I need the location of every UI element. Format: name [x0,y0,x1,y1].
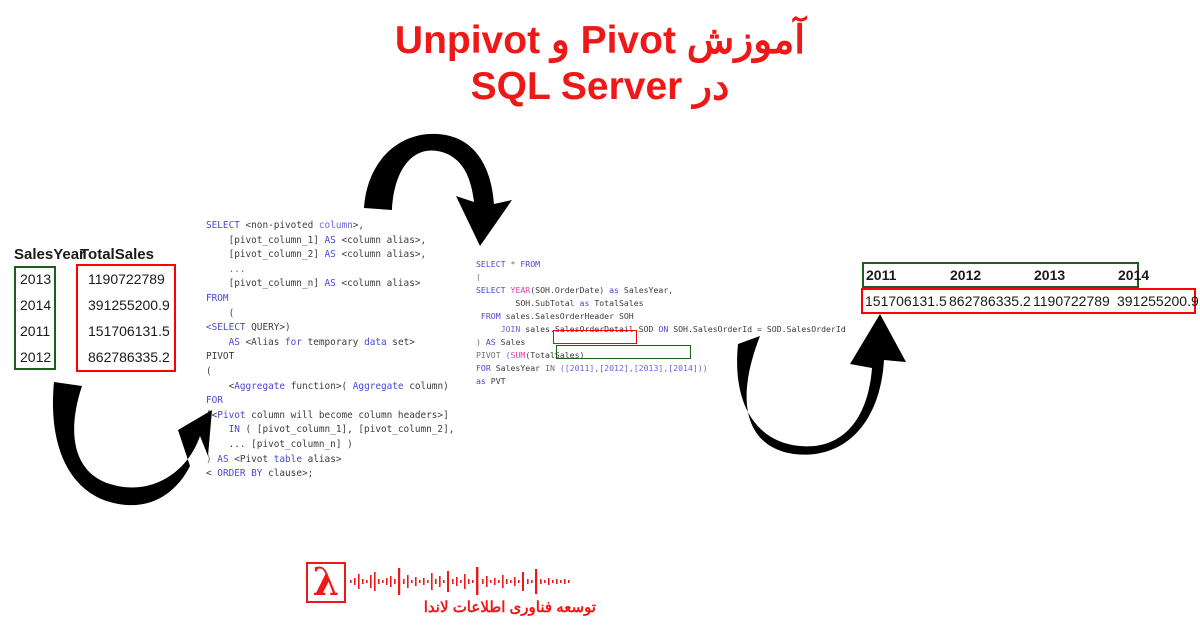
result-header-2014: 2014 [1114,267,1198,283]
code-line: FROM [206,292,454,307]
page-title-line-2: در SQL Server [0,64,1200,110]
source-table: SalesYear TotalSales 2013 1190722789 201… [14,246,170,263]
code-line: <SELECT QUERY>) [206,321,454,336]
code-line: SELECT * FROM [476,258,846,271]
code-line: ( [476,271,846,284]
pivot-syntax-code: SELECT <non-pivoted column>, [pivot_colu… [206,219,454,482]
result-value-2014: 391255200.9 [1114,293,1198,309]
code-line: [<Pivot column will become column header… [206,409,454,424]
code-line: ( [206,307,454,322]
cell-year: 2011 [14,323,82,339]
code-line: PIVOT [206,350,454,365]
result-value-2012: 862786335.2 [946,293,1030,309]
table-row: 2011 151706131.5 [14,318,188,344]
result-header-2011: 2011 [862,267,946,283]
code-line: <Aggregate function>( Aggregate column) [206,380,454,395]
code-line: ) AS <Pivot table alias> [206,453,454,468]
result-table: 2011 2012 2013 2014 151706131.5 86278633… [862,262,1196,310]
result-value-2011: 151706131.5 [862,293,946,309]
page-title: آموزش Pivot و Unpivot در SQL Server [0,18,1200,110]
result-value-2013: 1190722789 [1030,293,1114,309]
code-line: [pivot_column_n] AS <column alias> [206,277,454,292]
source-table-header-salesyear: SalesYear [14,246,72,263]
result-header-2012: 2012 [946,267,1030,283]
code-line: IN ( [pivot_column_1], [pivot_column_2], [206,423,454,438]
cell-year: 2013 [14,271,82,287]
code-line: < ORDER BY clause>; [206,467,454,482]
code-line: ... [pivot_column_n] ) [206,438,454,453]
source-table-body: 2013 1190722789 2014 391255200.9 2011 15… [14,266,188,370]
source-table-header-totalsales: TotalSales [72,246,170,263]
table-row: 2012 862786335.2 [14,344,188,370]
page-title-line-1: آموزش Pivot و Unpivot [0,18,1200,64]
result-header-2013: 2013 [1030,267,1114,283]
cell-total: 1190722789 [82,271,188,287]
result-table-header-row: 2011 2012 2013 2014 [862,262,1198,288]
cell-total: 862786335.2 [82,349,188,365]
aggregate-function-highlight [553,330,637,344]
code-line: FOR [206,394,454,409]
table-row: 2014 391255200.9 [14,292,188,318]
code-line: SELECT YEAR(SOH.OrderDate) as SalesYear, [476,284,846,297]
code-line: [pivot_column_2] AS <column alias>, [206,248,454,263]
arrow-syntax-to-table-icon [44,374,216,516]
table-row: 2013 1190722789 [14,266,188,292]
waveform-icon [350,566,590,596]
logo-wordmark: توسعه فناوری اطلاعات لاندا [346,598,596,616]
cell-total: 391255200.9 [82,297,188,313]
code-line: ( [206,365,454,380]
cell-year: 2012 [14,349,82,365]
code-line: AS <Alias for temporary data set> [206,336,454,351]
lambda-icon: λ [306,562,346,603]
arrow-table-to-syntax-icon [352,118,532,250]
cell-year: 2014 [14,297,82,313]
brand-logo: λ [306,558,596,624]
source-table-header-row: SalesYear TotalSales [14,246,170,263]
pivot-columns-highlight [556,345,691,359]
arrow-example-to-result-icon [730,308,920,470]
code-line: ... [206,263,454,278]
cell-total: 151706131.5 [82,323,188,339]
slide-canvas: آموزش Pivot و Unpivot در SQL Server Sale… [0,0,1200,628]
